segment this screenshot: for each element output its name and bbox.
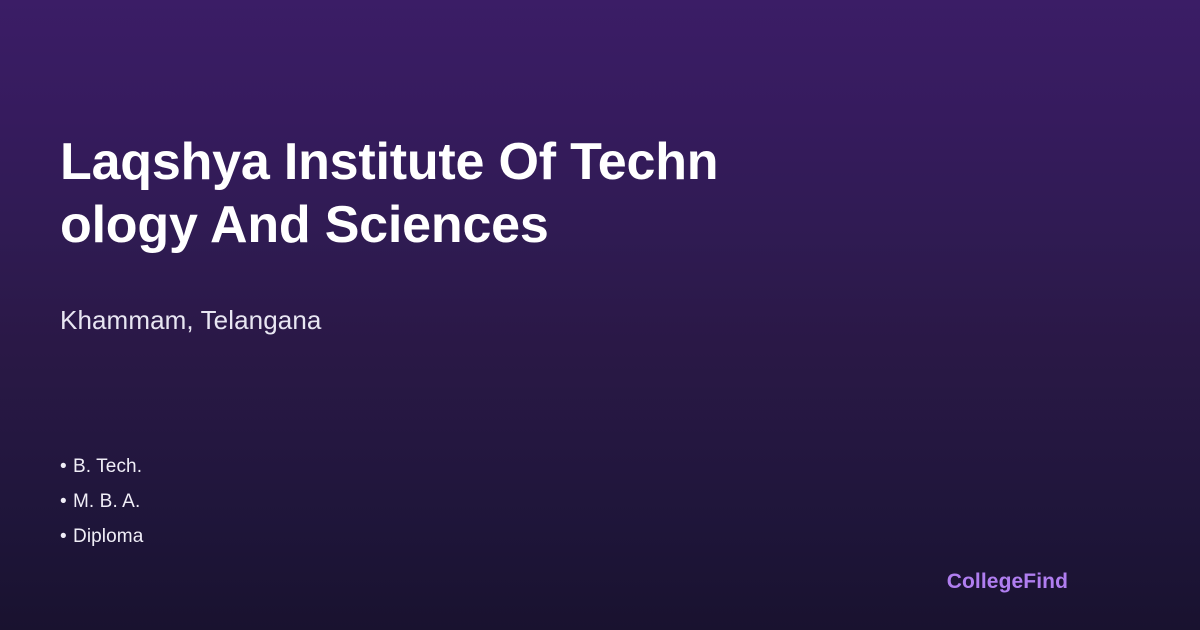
list-item: •B. Tech.	[60, 449, 143, 484]
college-location: Khammam, Telangana	[60, 303, 321, 337]
list-item: •M. B. A.	[60, 484, 143, 519]
page-title: Laqshya Institute Of Technology And Scie…	[60, 131, 720, 257]
list-item: •Diploma	[60, 519, 143, 554]
course-list: •B. Tech. •M. B. A. •Diploma	[60, 449, 143, 554]
college-info-card: Laqshya Institute Of Technology And Scie…	[0, 0, 1200, 630]
bullet-icon: •	[60, 449, 73, 484]
course-label: M. B. A.	[73, 491, 140, 512]
course-label: Diploma	[73, 526, 143, 547]
brand-logo: CollegeFind	[947, 570, 1068, 594]
bullet-icon: •	[60, 484, 73, 519]
course-label: B. Tech.	[73, 456, 142, 477]
bullet-icon: •	[60, 519, 73, 554]
